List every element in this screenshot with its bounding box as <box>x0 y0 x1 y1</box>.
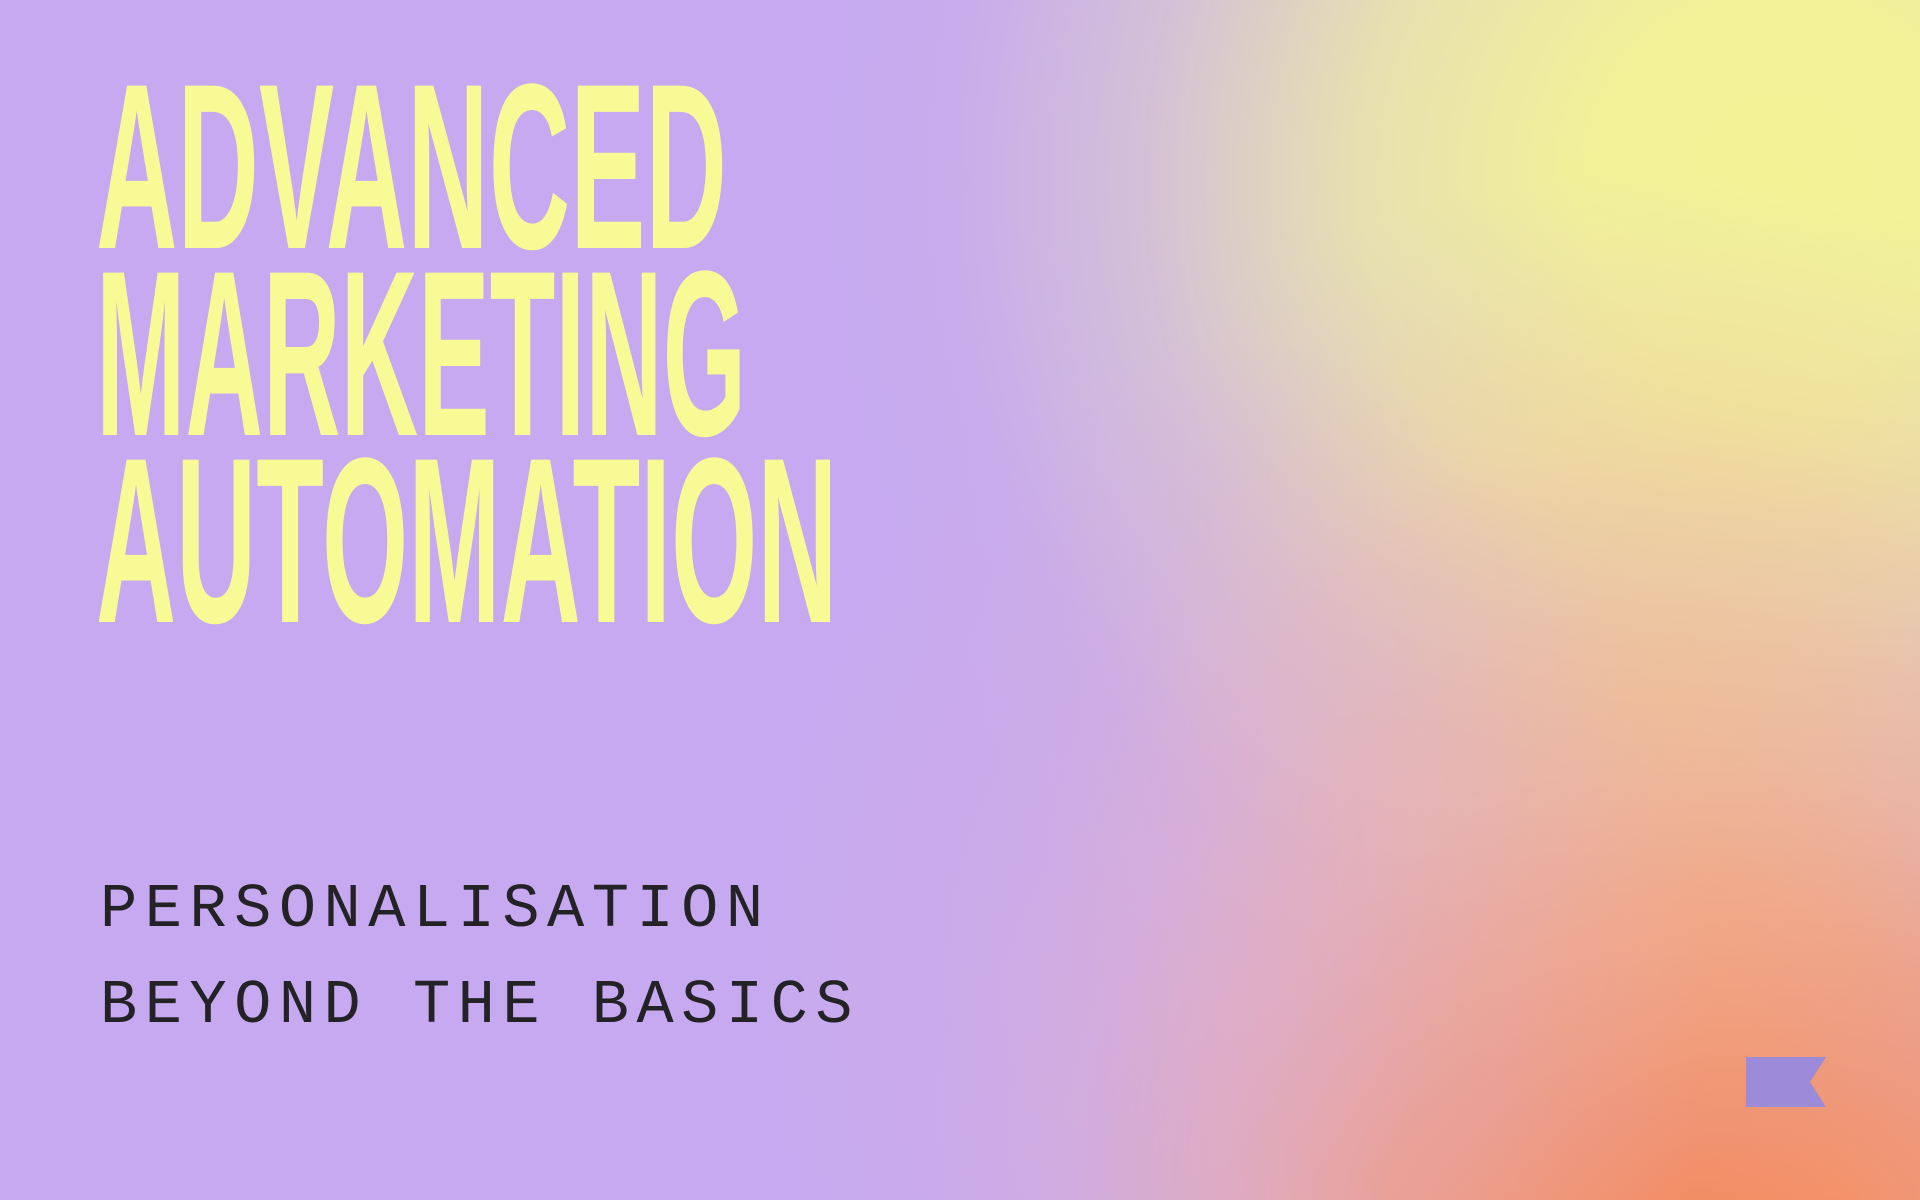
subheadline-line-2: BEYOND THE BASICS <box>100 958 860 1054</box>
pennant-flag-icon <box>1746 1057 1826 1107</box>
headline-block: ADVANCED MARKETING AUTOMATION <box>96 74 1674 635</box>
poster-canvas: ADVANCED MARKETING AUTOMATION PERSONALIS… <box>0 0 1920 1200</box>
poster-content: ADVANCED MARKETING AUTOMATION PERSONALIS… <box>0 0 1920 1200</box>
subheadline-block: PERSONALISATION BEYOND THE BASICS <box>100 862 860 1054</box>
headline-line-3: AUTOMATION <box>96 448 837 635</box>
brand-mark <box>1746 1057 1826 1107</box>
subheadline-line-1: PERSONALISATION <box>100 862 860 958</box>
